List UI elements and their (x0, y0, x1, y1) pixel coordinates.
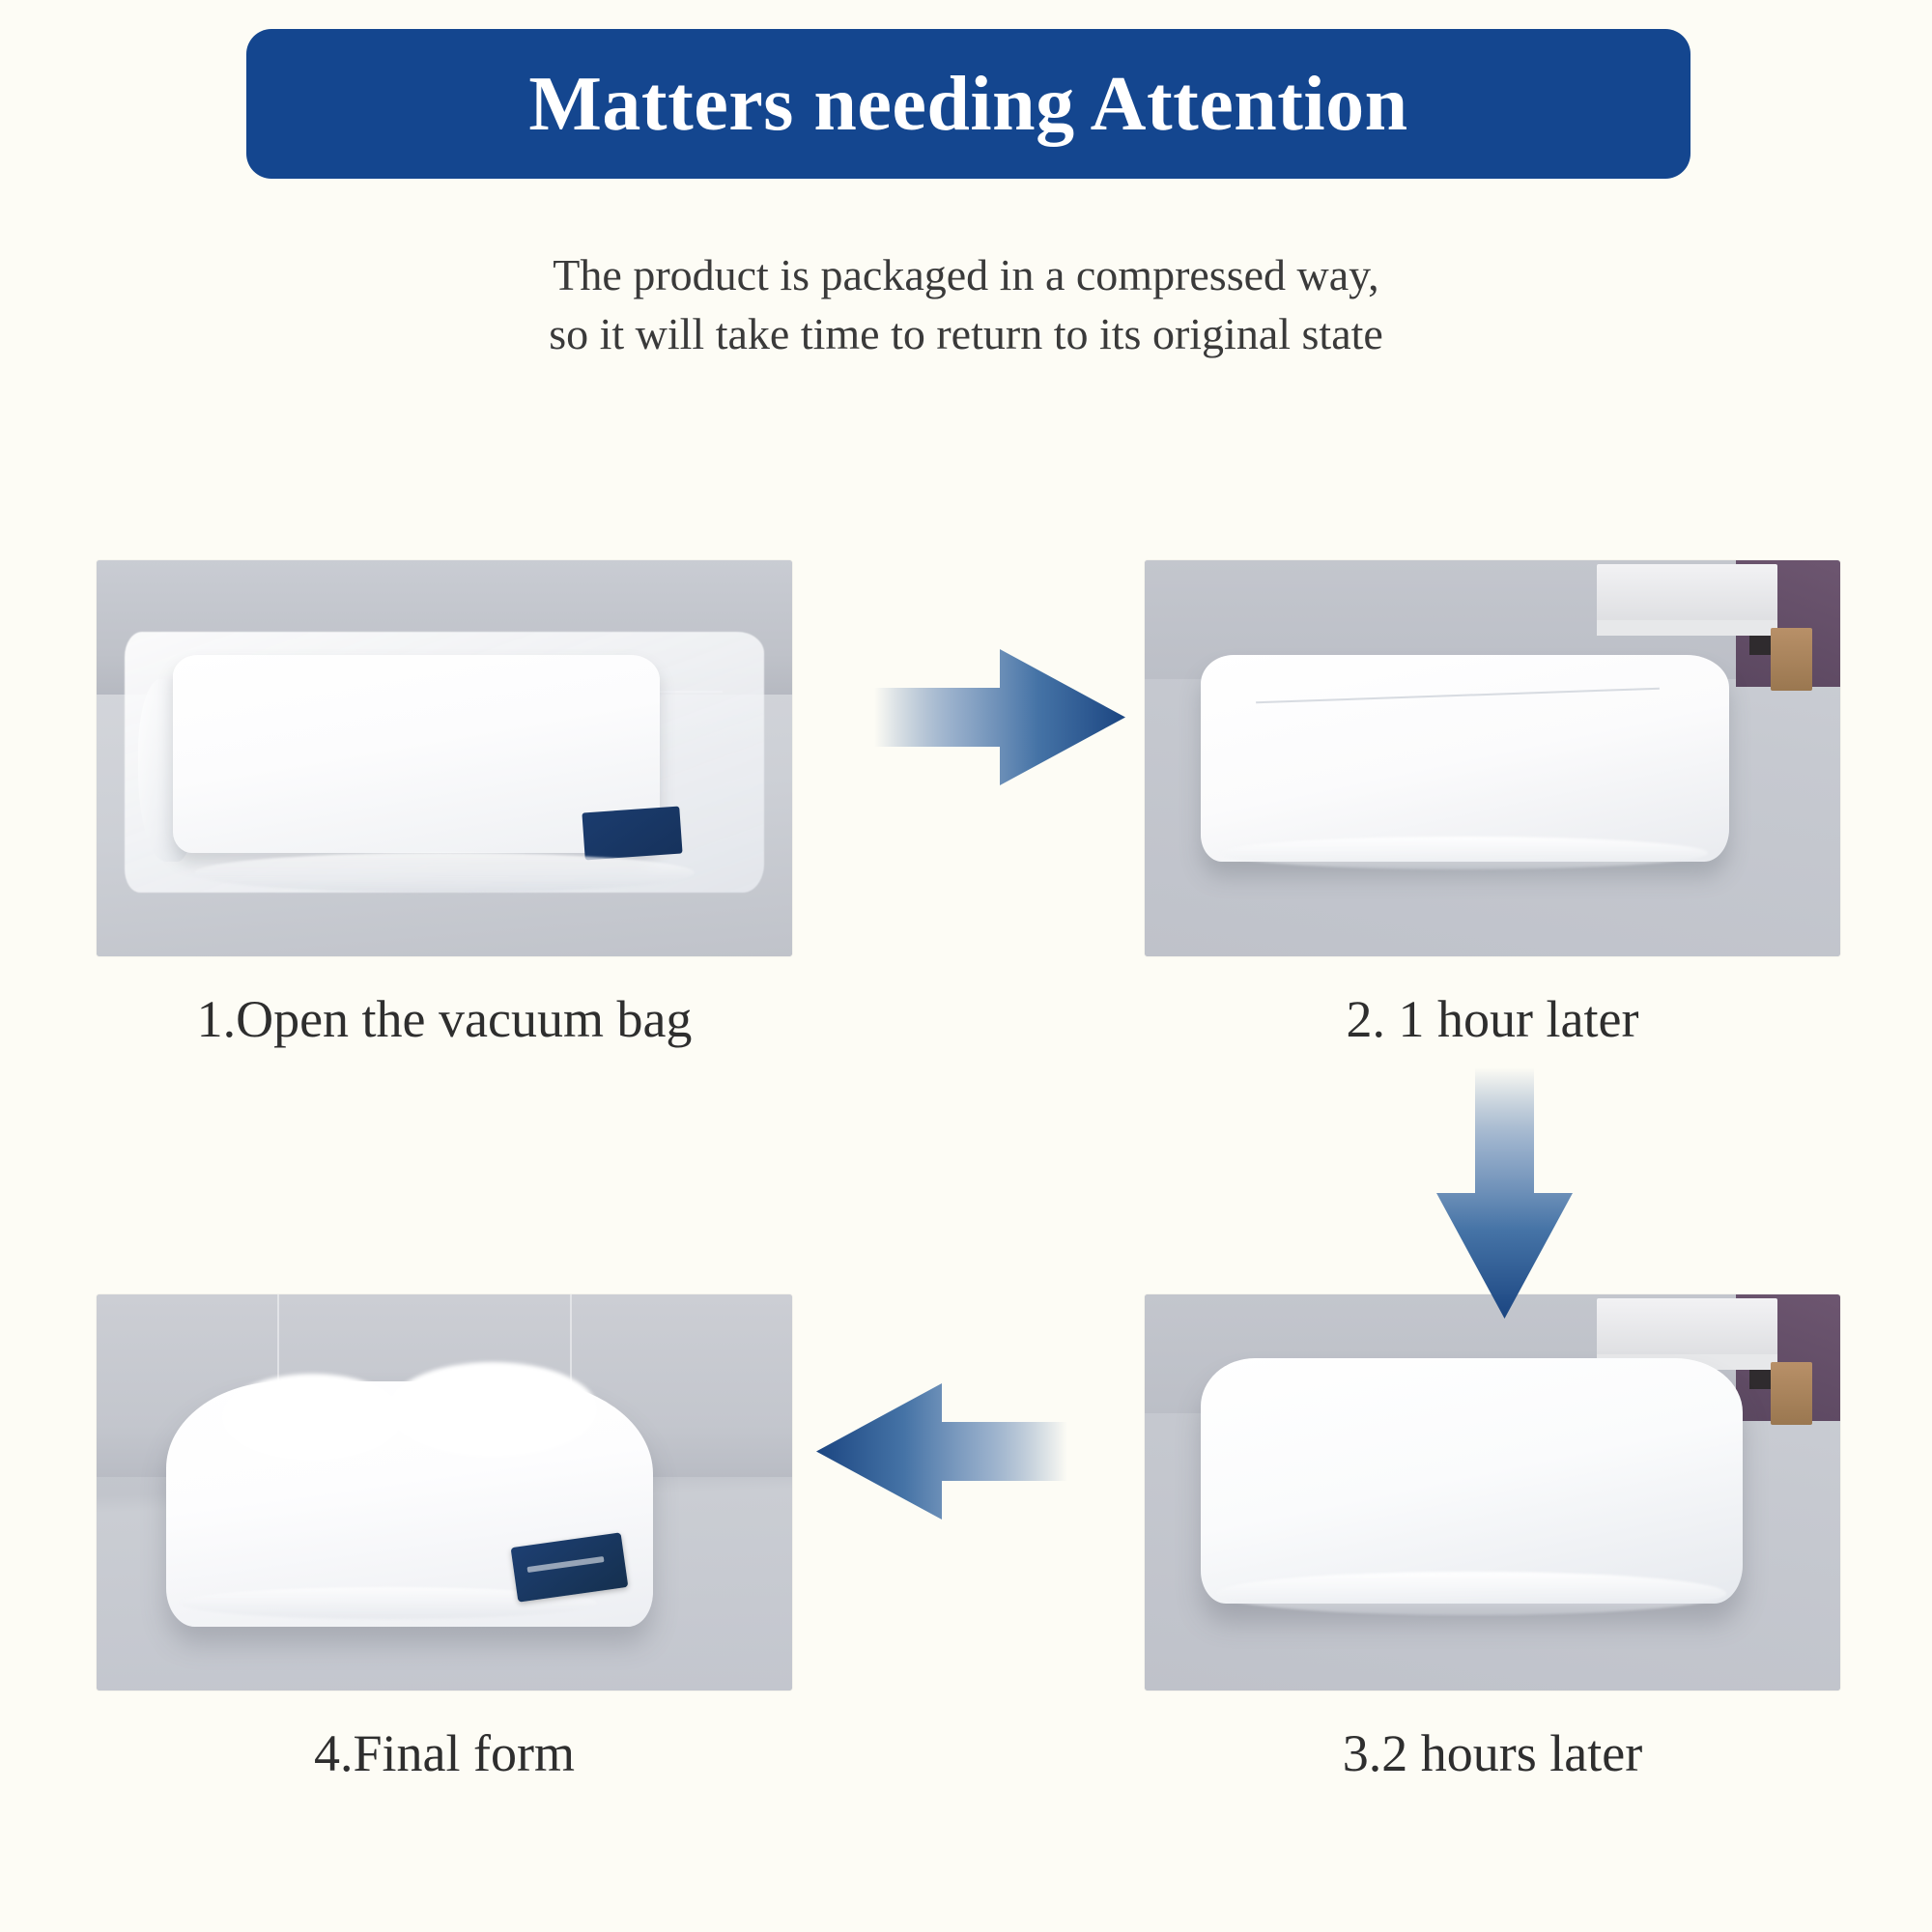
step-4-photo (97, 1294, 792, 1690)
step-2-caption: 2. 1 hour later (1145, 991, 1840, 1048)
page-title: Matters needing Attention (528, 66, 1407, 143)
step-2-photo (1145, 560, 1840, 956)
scene-one-hour-later (1145, 560, 1840, 956)
step-4-caption: 4.Final form (97, 1725, 792, 1782)
subtitle-line-1: The product is packaged in a compressed … (0, 246, 1932, 305)
step-2: 2. 1 hour later (1145, 560, 1840, 1048)
arrow-step1-to-step2-icon (874, 633, 1125, 802)
step-1-caption: 1.Open the vacuum bag (97, 991, 792, 1048)
arrow-step2-to-step3-icon (1420, 1067, 1589, 1319)
step-4: 4.Final form (97, 1294, 792, 1782)
arrow-step3-to-step4-icon (816, 1367, 1067, 1536)
subtitle-line-2: so it will take time to return to its or… (0, 305, 1932, 364)
title-banner: Matters needing Attention (246, 29, 1690, 179)
scene-two-hours-later (1145, 1294, 1840, 1690)
step-1: 1.Open the vacuum bag (97, 560, 792, 1048)
step-3: 3.2 hours later (1145, 1294, 1840, 1782)
header: Matters needing Attention The product is… (0, 0, 1932, 406)
scene-final-form (97, 1294, 792, 1690)
step-1-photo (97, 560, 792, 956)
step-3-photo (1145, 1294, 1840, 1690)
subtitle: The product is packaged in a compressed … (0, 246, 1932, 363)
scene-vacuum-bag (97, 560, 792, 956)
step-3-caption: 3.2 hours later (1145, 1725, 1840, 1782)
